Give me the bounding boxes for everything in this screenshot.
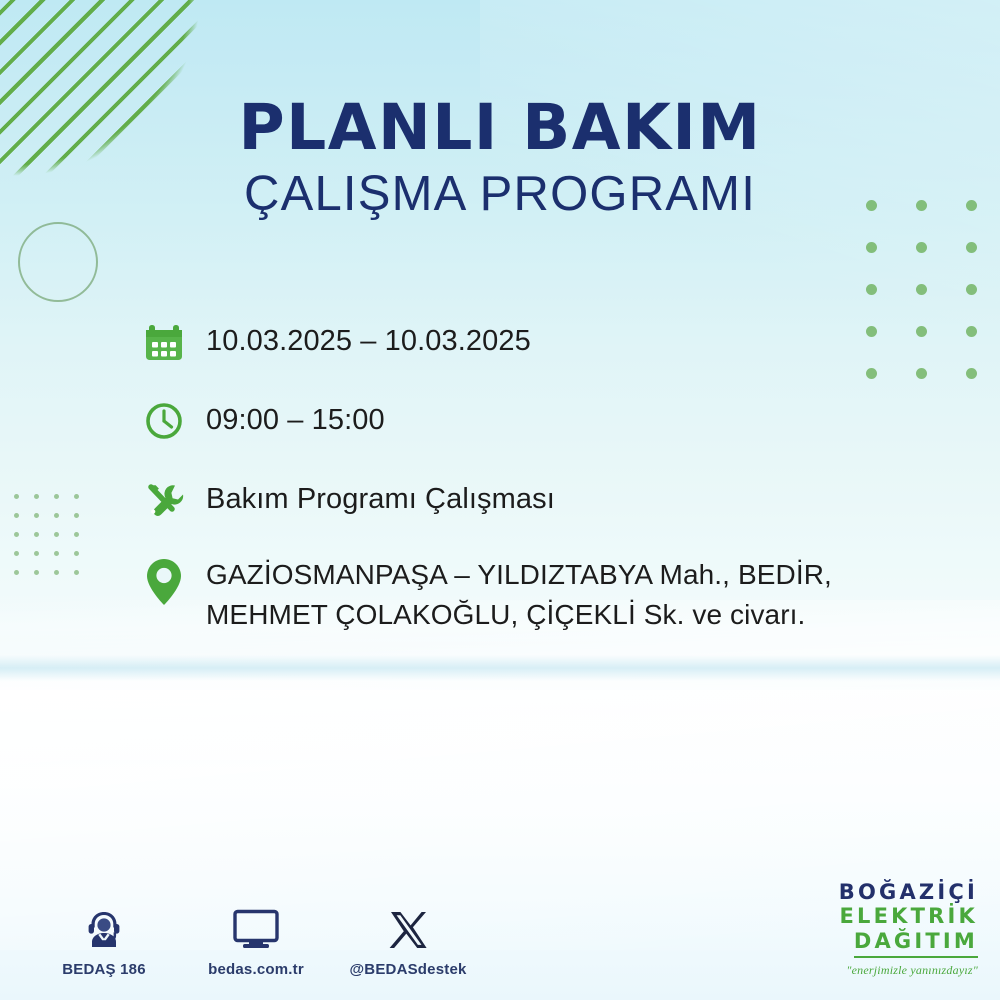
page-subtitle: ÇALIŞMA PROGRAMI: [0, 166, 1000, 224]
contact-website-label: bedas.com.tr: [208, 961, 304, 978]
detail-row-time: 09:00 – 15:00: [138, 395, 928, 447]
maintenance-details-list: 10.03.2025 – 10.03.2025 09:00 – 15:00: [138, 316, 928, 635]
poster-title-block: PLANLI BAKIM ÇALIŞMA PROGRAMI: [0, 96, 1000, 224]
contact-website[interactable]: bedas.com.tr: [202, 905, 310, 978]
planned-maintenance-poster: PLANLI BAKIM ÇALIŞMA PROGRAMI 10.03: [0, 0, 1000, 1000]
detail-row-date: 10.03.2025 – 10.03.2025: [138, 316, 928, 368]
brand-line-bogazici: BOĞAZİÇİ: [798, 880, 978, 905]
dot-grid-left-decoration: [14, 494, 94, 589]
maintenance-date-range: 10.03.2025 – 10.03.2025: [206, 316, 531, 361]
detail-row-location: GAZİOSMANPAŞA – YILDIZTABYA Mah., BEDİR,…: [138, 553, 928, 635]
contact-x-social[interactable]: @BEDASdestek: [354, 905, 462, 978]
page-title: PLANLI BAKIM: [0, 96, 1000, 160]
contact-phone[interactable]: BEDAŞ 186: [50, 905, 158, 978]
maintenance-address: GAZİOSMANPAŞA – YILDIZTABYA Mah., BEDİR,…: [206, 553, 928, 635]
location-pin-icon: [138, 553, 190, 605]
contact-x-label: @BEDASdestek: [349, 961, 466, 978]
calendar-icon: [138, 316, 190, 368]
maintenance-time-range: 09:00 – 15:00: [206, 395, 385, 440]
contact-phone-label: BEDAŞ 186: [62, 961, 146, 978]
clock-icon: [138, 395, 190, 447]
maintenance-type: Bakım Programı Çalışması: [206, 474, 555, 519]
monitor-icon: [232, 905, 280, 951]
circle-outline-decoration: [18, 222, 98, 302]
brand-line-dagitim: DAĞITIM: [854, 929, 978, 958]
support-agent-icon: [82, 905, 126, 951]
x-logo-icon: [387, 905, 429, 951]
contact-channels: BEDAŞ 186 bedas.com.tr: [50, 905, 462, 978]
tools-icon: [138, 474, 190, 526]
background-divider-band: [0, 655, 1000, 681]
brand-line-elektrik: ELEKTRİK: [798, 904, 978, 929]
brand-logo: BOĞAZİÇİ ELEKTRİK DAĞITIM "enerjimizle y…: [798, 880, 978, 978]
poster-footer: BEDAŞ 186 bedas.com.tr: [0, 870, 1000, 1000]
detail-row-type: Bakım Programı Çalışması: [138, 474, 928, 526]
brand-tagline: "enerjimizle yanınızdayız": [798, 963, 978, 978]
